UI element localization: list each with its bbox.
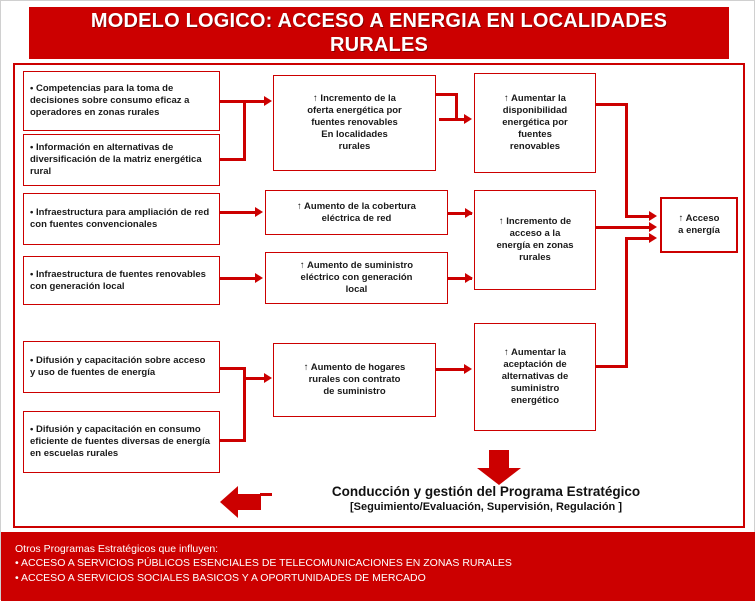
line: eléctrico con generación (301, 272, 413, 283)
arrowhead-to-output2 (255, 207, 263, 217)
line: energética por (502, 117, 567, 128)
input-label: • Difusión y capacitación en consumo efi… (30, 424, 213, 460)
output-box-suministro-local: ↑ Aumento de suministro eléctrico con ge… (265, 252, 448, 304)
line: ↑ Aumento de hogares (304, 362, 406, 373)
line: renovables (510, 141, 560, 152)
line: energético (511, 395, 559, 406)
line: suministro (511, 383, 560, 394)
line: ↑ Aumento de suministro (300, 260, 413, 271)
arrowhead-to-output4 (264, 373, 272, 383)
output-box-oferta-energetica: ↑ Incremento de la oferta energética por… (273, 75, 436, 171)
line: alternativas de (502, 371, 569, 382)
line: ↑ Incremento de (499, 216, 571, 227)
input-box-infraestructura-red: • Infraestructura para ampliación de red… (23, 193, 220, 245)
output-label: ↑ Aumento de suministro eléctrico con ge… (272, 260, 441, 296)
line: En localidades (321, 129, 388, 140)
line: fuentes renovables (311, 117, 398, 128)
management-subtitle: [Seguimiento/Evaluación, Supervisión, Re… (261, 500, 711, 515)
line: energía en zonas (496, 240, 573, 251)
arrowhead-impact-top (649, 211, 657, 221)
footer-band: Otros Programas Estratégicos que influye… (1, 532, 755, 601)
arrowhead-impact-bottom (649, 233, 657, 243)
connector-output1-drop (455, 93, 458, 121)
arrowhead-to-outcome2-upper (465, 208, 473, 218)
input-box-infraestructura-renovables: • Infraestructura de fuentes renovables … (23, 256, 220, 305)
connector-to-output1 (243, 100, 265, 103)
line: aceptación de (503, 359, 566, 370)
arrowhead-to-output1 (264, 96, 272, 106)
outcome-label: ↑ Aumentar la aceptación de alternativas… (481, 347, 589, 407)
outcome-box-acceso-energia-rural: ↑ Incremento de acceso a la energía en z… (474, 190, 596, 290)
output-label: ↑ Aumento de hogares rurales con contrat… (280, 362, 429, 398)
outcome-label: ↑ Incremento de acceso a la energía en z… (481, 216, 589, 264)
down-block-arrow-icon (476, 450, 522, 486)
input-label: • Infraestructura para ampliación de red… (30, 207, 213, 231)
input-box-informacion: • Información en alternativas de diversi… (23, 134, 220, 186)
connector-outcome2-to-impact (596, 226, 651, 229)
input-label: • Competencias para la toma de decisione… (30, 83, 213, 119)
input-label: • Difusión y capacitación sobre acceso y… (30, 355, 213, 379)
left-block-arrow-icon (220, 485, 262, 519)
arrowhead-to-outcome1 (464, 114, 472, 124)
arrowhead-impact-middle (649, 222, 657, 232)
arrowhead-to-outcome3 (464, 364, 472, 374)
input-box-competencias: • Competencias para la toma de decisione… (23, 71, 220, 131)
connector-input4-to-output3 (220, 277, 256, 280)
management-band: Conducción y gestión del Programa Estrat… (261, 483, 711, 515)
left-block-arrow-svg (220, 485, 262, 519)
connector-outcome3-to-impact (625, 237, 651, 240)
output-box-hogares-contrato: ↑ Aumento de hogares rurales con contrat… (273, 343, 436, 417)
connector-input2-stub (220, 158, 246, 161)
footer-item-telecom: • ACCESO A SERVICIOS PÚBLICOS ESENCIALES… (15, 556, 742, 571)
output-box-cobertura-electrica: ↑ Aumento de la cobertura eléctrica de r… (265, 190, 448, 235)
down-block-arrow-svg (476, 450, 522, 486)
input-box-difusion-consumo: • Difusión y capacitación en consumo efi… (23, 411, 220, 473)
line: ↑ Aumento de la cobertura (297, 201, 416, 212)
line: disponibilidad (503, 105, 567, 116)
connector-outcome1-right (596, 103, 628, 106)
line: ↑ Aumentar la (504, 93, 566, 104)
footer-item-sociales: • ACCESO A SERVICIOS SOCIALES BASICOS Y … (15, 571, 742, 586)
line: rurales (519, 252, 551, 263)
line: ↑ Aumentar la (504, 347, 566, 358)
logic-model-diagram: MODELO LOGICO: ACCESO A ENERGIA EN LOCAL… (0, 0, 755, 600)
connector-input3-to-output2 (220, 211, 256, 214)
outcome-box-aceptacion: ↑ Aumentar la aceptación de alternativas… (474, 323, 596, 431)
connector-outcome1-to-impact (625, 215, 651, 218)
input-label: • Infraestructura de fuentes renovables … (30, 269, 213, 293)
input-box-difusion-acceso: • Difusión y capacitación sobre acceso y… (23, 341, 220, 393)
arrowhead-to-outcome2-lower (465, 273, 473, 283)
connector-outcome3-rise (625, 237, 628, 367)
line: ↑ Incremento de la (313, 93, 396, 104)
output-label: ↑ Incremento de la oferta energética por… (280, 93, 429, 153)
impact-box-acceso-energia: ↑ Acceso a energía (660, 197, 738, 253)
connector-to-output4 (243, 377, 265, 380)
output-label: ↑ Aumento de la cobertura eléctrica de r… (272, 201, 441, 225)
connector-outcome3-right (596, 365, 628, 368)
input-label: • Información en alternativas de diversi… (30, 142, 213, 178)
diagram-canvas: • Competencias para la toma de decisione… (13, 63, 745, 528)
impact-label: ↑ Acceso a energía (668, 213, 730, 237)
line: fuentes (518, 129, 552, 140)
arrowhead-to-output3 (255, 273, 263, 283)
outcome-label: ↑ Aumentar la disponibilidad energética … (481, 93, 589, 153)
line: rurales con contrato (309, 374, 401, 385)
line: acceso a la (510, 228, 561, 239)
page-title: MODELO LOGICO: ACCESO A ENERGIA EN LOCAL… (29, 7, 729, 59)
connector-output1-to-outcome1 (439, 118, 465, 121)
connector-outcome1-drop (625, 103, 628, 218)
management-title: Conducción y gestión del Programa Estrat… (261, 483, 711, 500)
line: local (346, 284, 368, 295)
line: de suministro (323, 386, 385, 397)
line: oferta energética por (307, 105, 402, 116)
connector-output4-right (436, 368, 466, 371)
line: eléctrica de red (322, 213, 392, 224)
line: rurales (339, 141, 371, 152)
footer-heading: Otros Programas Estratégicos que influye… (15, 542, 742, 556)
line: a energía (678, 225, 720, 236)
outcome-box-disponibilidad: ↑ Aumentar la disponibilidad energética … (474, 73, 596, 173)
line: ↑ Acceso (679, 213, 720, 224)
connector-inputs12-merge-vertical (243, 100, 246, 160)
